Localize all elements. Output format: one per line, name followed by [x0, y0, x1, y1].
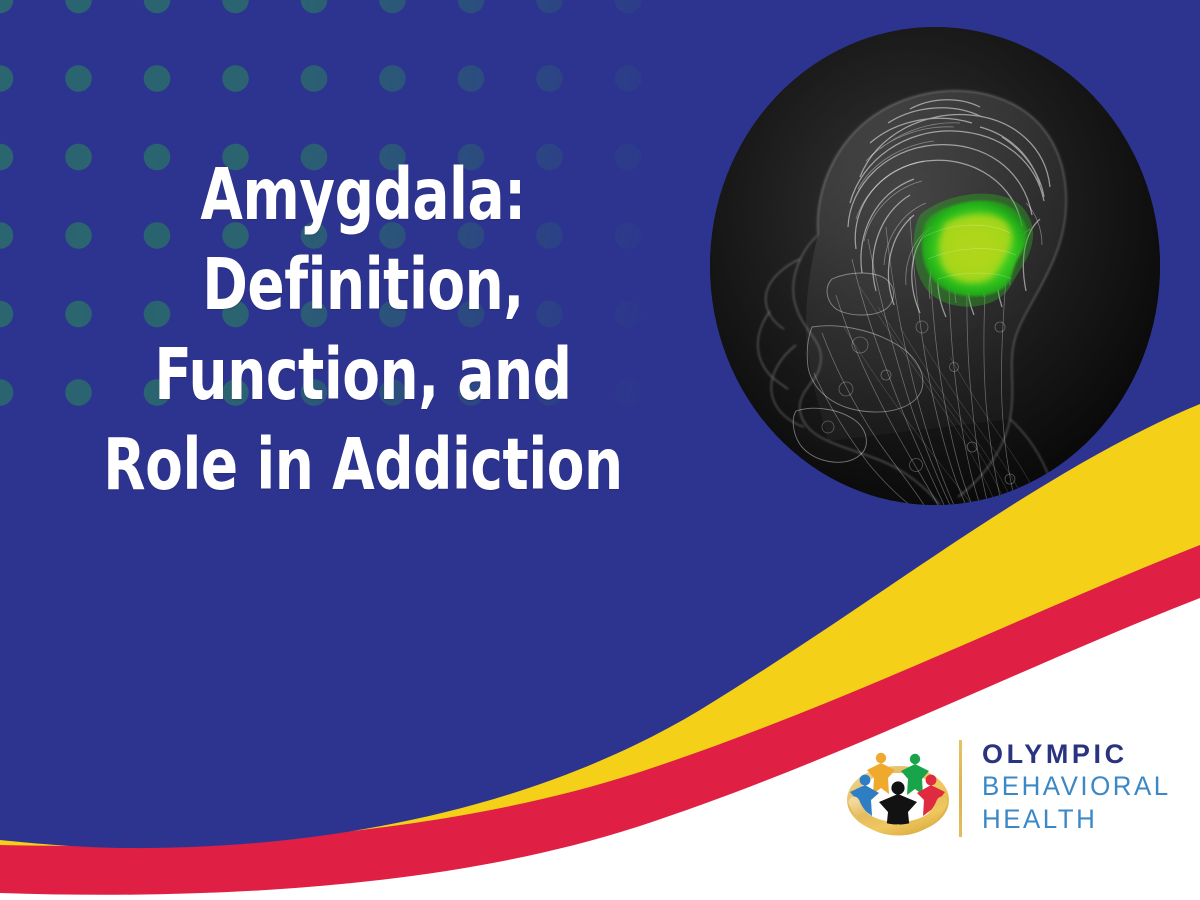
olympic-behavioral-health-people-circle-icon — [845, 736, 951, 840]
slide-canvas: Amygdala: Definition, Function, and Role… — [0, 0, 1200, 900]
brand-logo[interactable]: OLYMPIC BEHAVIORAL HEALTH — [845, 733, 1145, 843]
brain-illustration — [710, 27, 1160, 505]
logo-mark-svg — [845, 736, 951, 840]
logo-word-olympic: OLYMPIC — [982, 740, 1179, 769]
page-title-text: Amygdala: Definition, Function, and Role… — [101, 150, 626, 511]
logo-wordmark: OLYMPIC BEHAVIORAL HEALTH — [982, 740, 1179, 835]
logo-word-health: HEALTH — [982, 803, 1171, 836]
page-title: Amygdala: Definition, Function, and Role… — [58, 150, 668, 511]
brain-amygdala-xray-circle — [710, 27, 1160, 505]
logo-word-behavioral: BEHAVIORAL — [982, 770, 1171, 803]
logo-divider — [959, 740, 962, 837]
